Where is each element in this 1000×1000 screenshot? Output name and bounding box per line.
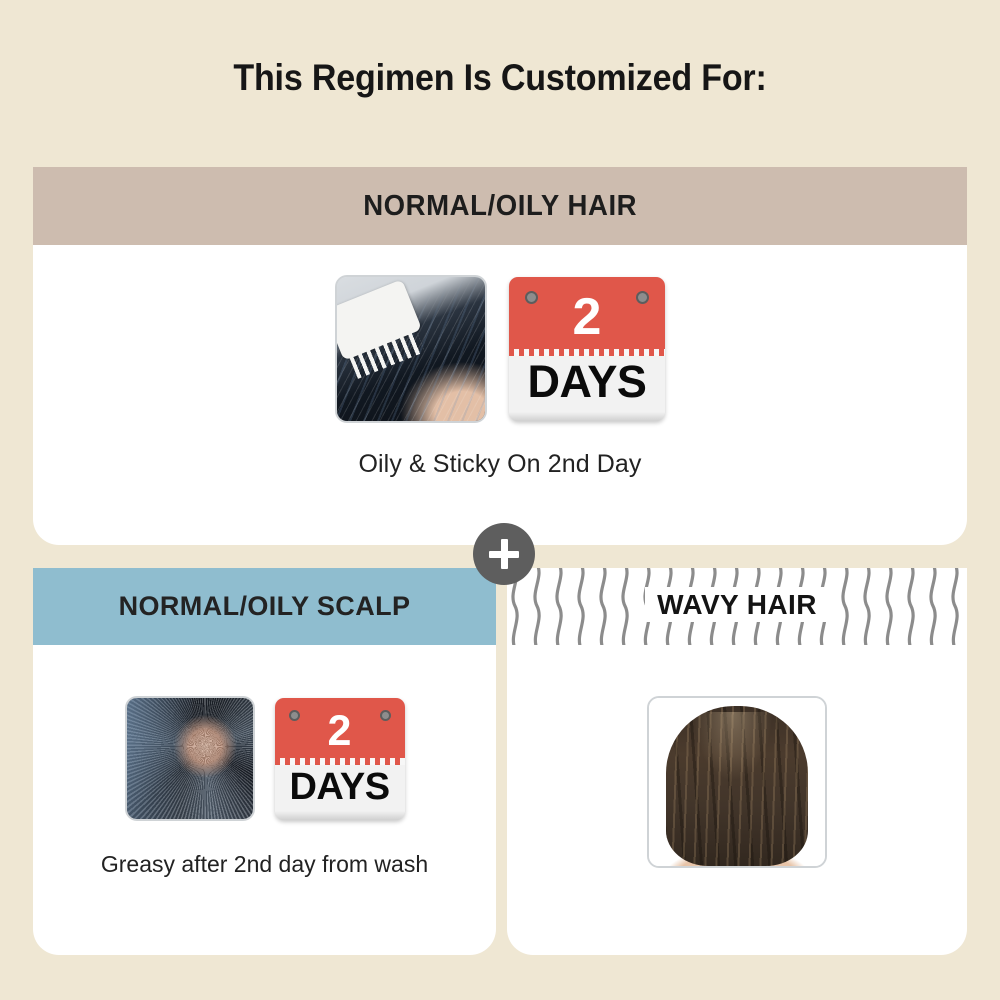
card-wavy-hair-photo-row [507,696,967,868]
calendar-tear-edge [275,758,405,765]
calendar-days-label: DAYS [275,768,405,806]
card-normal-oily-hair: NORMAL/OILY HAIR 2 DAYS Oily & Sticky On… [33,167,967,545]
card-normal-oily-scalp-header-label: NORMAL/OILY SCALP [119,591,411,622]
card-wavy-hair-header-label: WAVY HAIR [507,589,967,621]
calendar-2-days-icon: 2 DAYS [275,698,405,820]
card-wavy-hair: WAVY HAIR [507,568,967,955]
oily-hair-being-combed-photo [335,275,487,423]
card-normal-oily-scalp-caption: Greasy after 2nd day from wash [33,851,496,878]
wavy-brown-hair-back-view-photo [647,696,827,868]
card-normal-oily-hair-caption: Oily & Sticky On 2nd Day [33,450,967,479]
calendar-days-label: DAYS [509,359,665,404]
card-normal-oily-hair-icon-row: 2 DAYS [33,275,967,423]
calendar-2-days-icon: 2 DAYS [509,277,665,421]
card-normal-oily-scalp-header: NORMAL/OILY SCALP [33,568,496,645]
calendar-day-number: 2 [509,291,665,343]
card-normal-oily-hair-header: NORMAL/OILY HAIR [33,167,967,245]
card-normal-oily-scalp-icon-row: 2 DAYS [33,696,496,821]
card-wavy-hair-header-text: WAVY HAIR [645,587,829,622]
page-title: This Regimen Is Customized For: [40,57,960,99]
calendar-bottom-shadow [509,412,665,421]
hair-mass-shape [666,706,808,866]
calendar-day-number: 2 [275,710,405,753]
plus-icon [473,523,535,585]
card-normal-oily-hair-body: 2 DAYS Oily & Sticky On 2nd Day [33,245,967,545]
calendar-tear-edge [509,349,665,356]
hair-shine-highlight [692,712,774,782]
card-normal-oily-scalp: NORMAL/OILY SCALP 2 DAYS Greasy after 2n… [33,568,496,955]
oily-scalp-crown-photo [125,696,255,821]
scalp-photo-cool-tint [127,698,193,819]
card-normal-oily-hair-header-label: NORMAL/OILY HAIR [363,190,637,223]
calendar-bottom-shadow [275,811,405,820]
